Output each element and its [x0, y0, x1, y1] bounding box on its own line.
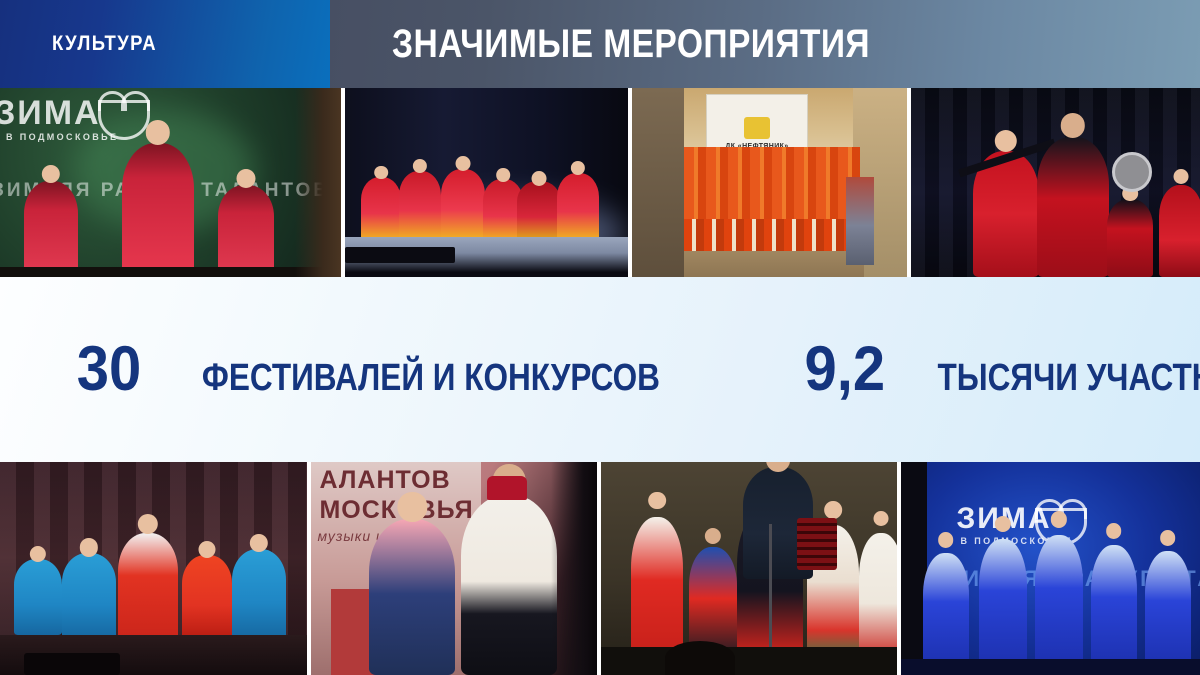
stats-band: 30 ФЕСТИВАЛЕЙ И КОНКУРСОВ 9,2 ТЫСЯЧИ УЧА… — [0, 277, 1200, 462]
performer — [441, 169, 485, 243]
performer — [361, 177, 401, 243]
page-title: ЗНАЧИМЫЕ МЕРОПРИЯТИЯ — [392, 24, 870, 64]
stat-festivals-number: 30 — [77, 338, 141, 401]
photo-caucasian-dance[interactable] — [911, 88, 1200, 277]
photo-dancing-couple[interactable]: АЛАНТОВ МОСКОВЬЯ музыки и танца — [311, 462, 597, 675]
slide-root: КУЛЬТУРА ЗНАЧИМЫЕ МЕРОПРИЯТИЯ ЗИМА В ПОД… — [0, 0, 1200, 675]
performer-blue — [62, 553, 116, 639]
stage-floor — [0, 267, 341, 277]
dancer — [979, 539, 1027, 675]
stage-monitor — [24, 653, 120, 675]
performer-female — [369, 519, 455, 675]
photo-blue-dancers[interactable]: ЗИМА В ПОДМОСКОВЬЕ ЗИМНЯЯ РАДУГА ТАЛАНТО… — [901, 462, 1200, 675]
stage-monitor — [345, 247, 455, 263]
stage-floor — [901, 659, 1200, 675]
header-title-block: ЗНАЧИМЫЕ МЕРОПРИЯТИЯ — [330, 0, 1200, 88]
dancer — [1145, 551, 1191, 675]
stat-participants-number: 9,2 — [804, 338, 885, 401]
dancer — [923, 553, 969, 675]
performer — [24, 181, 78, 277]
adult-figure — [846, 177, 874, 265]
curtain-edge — [295, 88, 341, 277]
photo-children-folk-dance[interactable] — [0, 462, 307, 675]
performer-male — [461, 495, 557, 675]
shield-prop — [1112, 152, 1152, 192]
photo-folk-dance-red[interactable] — [345, 88, 628, 277]
stat-festivals-label: ФЕСТИВАЛЕЙ И КОНКУРСОВ — [202, 359, 660, 397]
performer-girl — [631, 517, 683, 667]
performer — [517, 181, 561, 241]
performer-hat — [487, 476, 527, 500]
performer-blue — [232, 549, 286, 639]
performer-group — [684, 147, 860, 225]
accordion-icon — [797, 518, 837, 570]
gallery-bottom-row: АЛАНТОВ МОСКОВЬЯ музыки и танца ЗИМА — [0, 462, 1200, 675]
header-category-block: КУЛЬТУРА — [0, 0, 330, 88]
header-category-label: КУЛЬТУРА — [52, 32, 157, 56]
gallery-top-row: ЗИМА В ПОДМОСКОВЬЕ ЗИМНЯЯ РАДУГА ТАЛАНТО… — [0, 88, 1200, 277]
performer-red — [118, 533, 178, 645]
photo-group-award[interactable]: ДК «НЕФТЯНИК» — [632, 88, 907, 277]
performer — [218, 185, 274, 277]
curtain-edge — [551, 462, 597, 675]
performer — [557, 173, 599, 243]
performer-group-skirts — [684, 219, 860, 251]
performer-red — [182, 555, 232, 639]
performer — [1159, 185, 1200, 277]
dancer — [1091, 545, 1137, 675]
stat-participants-label: ТЫСЯЧИ УЧАСТНИКОВ — [937, 359, 1200, 397]
performer — [122, 143, 194, 277]
stat-festivals: 30 ФЕСТИВАЛЕЙ И КОНКУРСОВ — [74, 338, 707, 401]
hall-wall-left — [632, 88, 684, 277]
audience-silhouette — [665, 641, 735, 675]
stage-floor — [601, 647, 897, 675]
performer-male — [1037, 137, 1109, 277]
slide-header: КУЛЬТУРА ЗНАЧИМЫЕ МЕРОПРИЯТИЯ — [0, 0, 1200, 88]
backdrop-title: ЗИМА — [0, 94, 101, 133]
banner-emblem — [744, 117, 770, 139]
performer-blue — [14, 559, 62, 635]
performer-child — [1107, 199, 1153, 277]
photo-children-choir[interactable] — [601, 462, 897, 675]
dancer — [1035, 535, 1083, 675]
performer — [399, 171, 441, 243]
performer-girl — [859, 533, 897, 661]
stat-participants: 9,2 ТЫСЯЧИ УЧАСТНИКОВ — [801, 338, 1200, 401]
photo-girls-singing[interactable]: ЗИМА В ПОДМОСКОВЬЕ ЗИМНЯЯ РАДУГА ТАЛАНТО… — [0, 88, 341, 277]
